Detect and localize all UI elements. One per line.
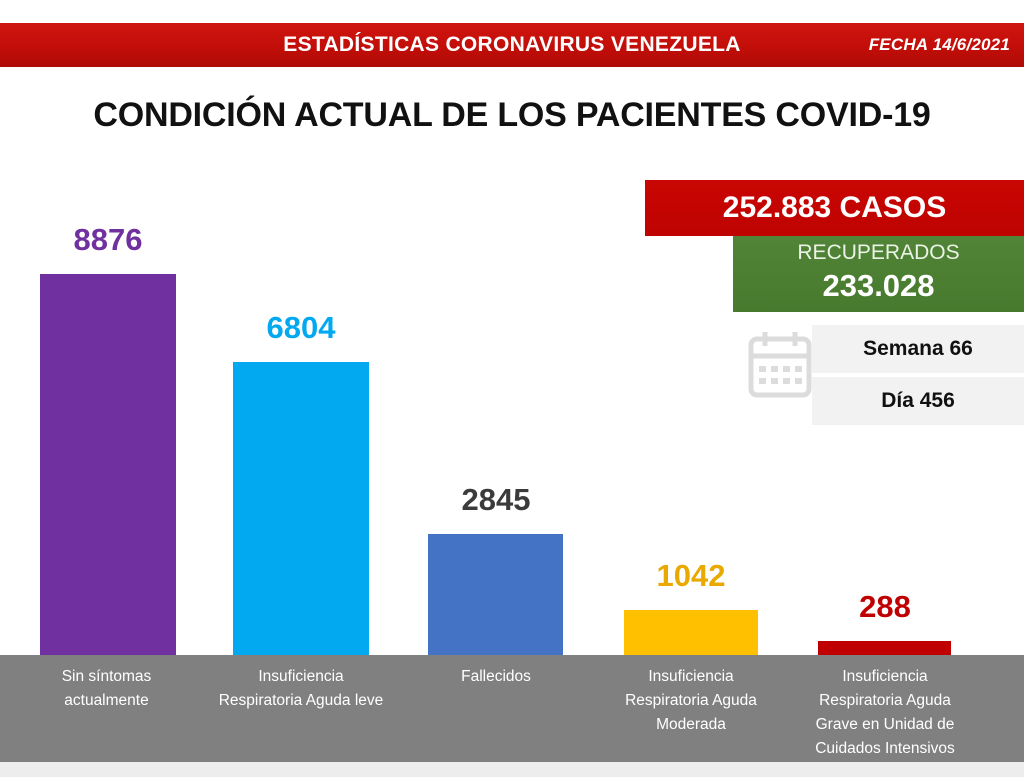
category-label-line: Insuficiencia <box>583 665 799 689</box>
category-label-line: Fallecidos <box>392 665 600 689</box>
top-banner: ESTADÍSTICAS CORONAVIRUS VENEZUELA FECHA… <box>0 23 1024 67</box>
category-label-line: Respiratoria Aguda <box>583 689 799 713</box>
bar-value-label-4: 1042 <box>583 558 799 594</box>
bar-5 <box>818 641 951 655</box>
bar-2 <box>233 362 369 655</box>
category-label-5: InsuficienciaRespiratoria AgudaGrave en … <box>777 665 993 761</box>
category-label-line: Moderada <box>583 713 799 737</box>
infographic-page: ESTADÍSTICAS CORONAVIRUS VENEZUELA FECHA… <box>0 0 1024 777</box>
category-label-line: Respiratoria Aguda leve <box>193 689 409 713</box>
category-label-1: Sin síntomasactualmente <box>0 665 213 713</box>
category-axis-strip: Sin síntomasactualmenteInsuficienciaResp… <box>0 655 1024 762</box>
category-label-line: actualmente <box>0 689 213 713</box>
banner-date: FECHA 14/6/2021 <box>869 23 1010 67</box>
bar-value-label-5: 288 <box>777 589 993 625</box>
bar-1 <box>40 274 176 655</box>
category-label-line: Insuficiencia <box>193 665 409 689</box>
category-label-line: Grave en Unidad de <box>777 713 993 737</box>
category-label-line: Cuidados Intensivos <box>777 737 993 761</box>
category-label-line: Sin síntomas <box>0 665 213 689</box>
category-label-4: InsuficienciaRespiratoria AgudaModerada <box>583 665 799 737</box>
category-label-line: Insuficiencia <box>777 665 993 689</box>
bar-value-label-2: 6804 <box>193 310 409 346</box>
bar-value-label-3: 2845 <box>388 482 604 518</box>
bar-3 <box>428 534 563 655</box>
category-label-line: Respiratoria Aguda <box>777 689 993 713</box>
bar-4 <box>624 610 758 655</box>
bar-value-label-1: 8876 <box>0 222 216 258</box>
page-title: CONDICIÓN ACTUAL DE LOS PACIENTES COVID-… <box>0 96 1024 135</box>
category-label-2: InsuficienciaRespiratoria Aguda leve <box>193 665 409 713</box>
footer-strip <box>0 762 1024 777</box>
category-label-3: Fallecidos <box>392 665 600 689</box>
bar-chart: 8876680428451042288 <box>0 160 1024 655</box>
